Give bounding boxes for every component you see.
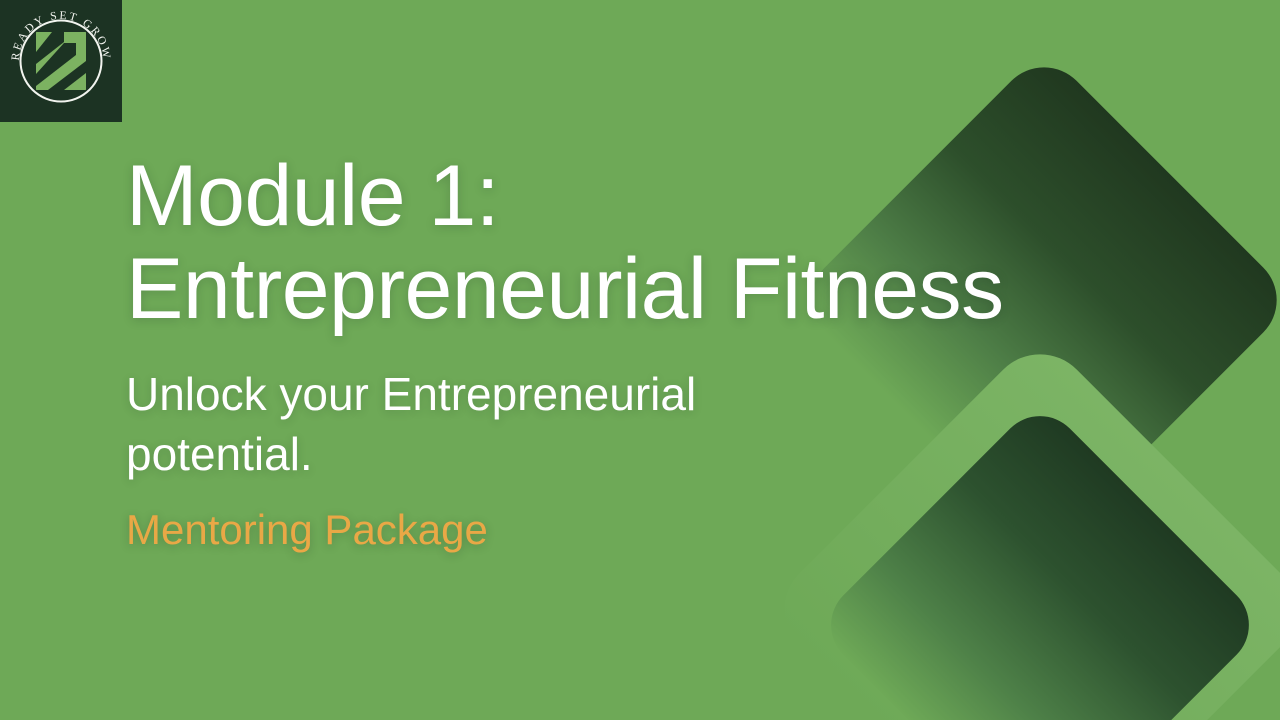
logo-monogram-icon (36, 32, 86, 90)
slide-text-content: Module 1: Entrepreneurial Fitness Unlock… (126, 150, 1086, 556)
brand-logo: READY SET GROW (0, 0, 122, 122)
presentation-slide: READY SET GROW Module 1: Entrepreneurial… (0, 0, 1280, 720)
slide-subtitle: Unlock your Entrepreneurial potential. (126, 364, 826, 485)
slide-title: Module 1: Entrepreneurial Fitness (126, 150, 1086, 336)
slide-tagline: Mentoring Package (126, 505, 1086, 555)
